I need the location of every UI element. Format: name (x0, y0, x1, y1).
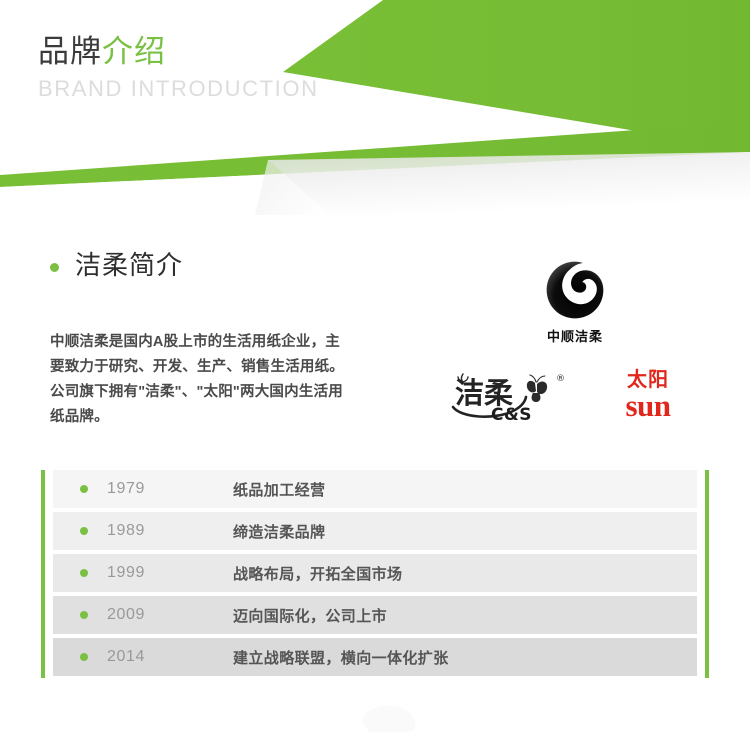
title-english: BRAND INTRODUCTION (38, 76, 319, 102)
timeline-row: 1979纸品加工经营 (53, 470, 697, 508)
timeline: 1979纸品加工经营1989缔造洁柔品牌1999战略布局，开拓全国市场2009迈… (41, 470, 709, 678)
intro-paragraph: 中顺洁柔是国内A股上市的生活用纸企业，主要致力于研究、开发、生产、销售生活用纸。… (50, 330, 350, 430)
timeline-rows: 1979纸品加工经营1989缔造洁柔品牌1999战略布局，开拓全国市场2009迈… (53, 470, 697, 676)
jierou-logo-icon: 洁柔 ® C&S (447, 369, 573, 423)
timeline-rail-right (705, 470, 709, 678)
sun-logo-en: sun (605, 391, 691, 421)
sun-brand-logo: 太阳 sun (605, 370, 691, 422)
jierou-brand-logo: 洁柔 ® C&S (447, 369, 573, 423)
timeline-year: 1989 (107, 522, 233, 540)
timeline-year: 1979 (107, 480, 233, 498)
brand-introduction-page: 品牌介绍 BRAND INTRODUCTION 洁柔简介 中顺洁柔是国内A股上市… (0, 0, 750, 732)
timeline-bullet-icon (80, 611, 88, 619)
timeline-bullet-icon (80, 527, 88, 535)
timeline-row: 1999战略布局，开拓全国市场 (53, 554, 697, 592)
timeline-year: 2014 (107, 648, 233, 666)
timeline-event: 缔造洁柔品牌 (233, 521, 325, 542)
page-fold-shadow (268, 152, 750, 215)
timeline-bullet-icon (80, 485, 88, 493)
timeline-event: 迈向国际化，公司上市 (233, 605, 387, 626)
timeline-year: 2009 (107, 606, 233, 624)
intro-heading: 洁柔简介 (50, 248, 183, 282)
timeline-bullet-icon (80, 653, 88, 661)
title-chinese: 品牌介绍 (38, 33, 319, 71)
title-chinese-dark: 品牌 (38, 34, 102, 69)
butterfly-icon (527, 375, 547, 402)
title-chinese-green: 介绍 (102, 34, 166, 69)
bottom-fold-watermark (0, 672, 750, 732)
intro-heading-label: 洁柔简介 (75, 248, 183, 282)
timeline-row: 2009迈向国际化，公司上市 (53, 596, 697, 634)
timeline-event: 纸品加工经营 (233, 479, 325, 500)
swirl-mark-icon (542, 257, 608, 323)
registered-mark: ® (556, 374, 565, 384)
timeline-event: 建立战略联盟，横向一体化扩张 (233, 647, 449, 668)
jierou-wordmark-en: C&S (491, 405, 532, 423)
timeline-rail-left (41, 470, 45, 678)
page-title: 品牌介绍 BRAND INTRODUCTION (38, 33, 319, 102)
timeline-bullet-icon (80, 569, 88, 577)
timeline-row: 1989缔造洁柔品牌 (53, 512, 697, 550)
timeline-year: 1999 (107, 564, 233, 582)
corporate-logo: 中顺洁柔 (527, 257, 623, 345)
bullet-dot-icon (50, 263, 59, 272)
timeline-row: 2014建立战略联盟，横向一体化扩张 (53, 638, 697, 676)
timeline-event: 战略布局，开拓全国市场 (233, 563, 402, 584)
corporate-logo-name: 中顺洁柔 (527, 326, 623, 345)
